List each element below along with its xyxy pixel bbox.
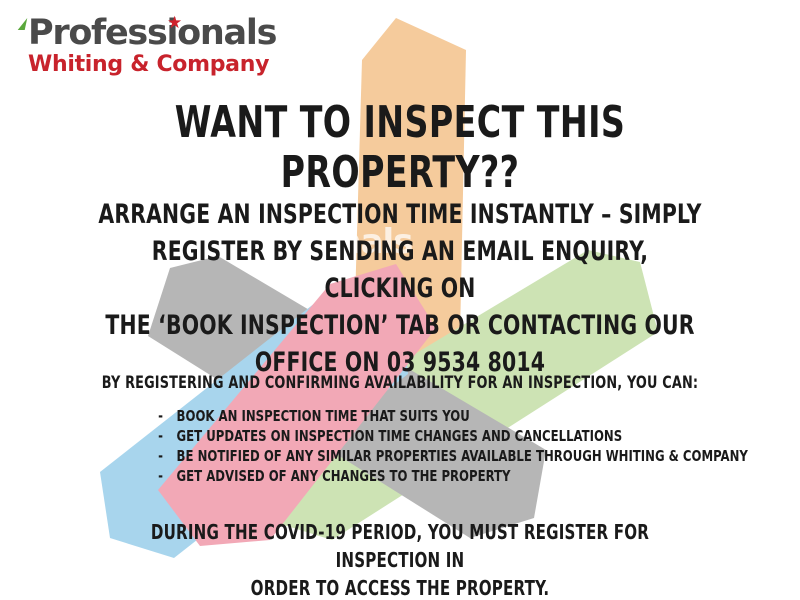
benefits-list: -BOOK AN INSPECTION TIME THAT SUITS YOU … — [0, 406, 800, 486]
list-item-label: GET UPDATES ON INSPECTION TIME CHANGES A… — [177, 427, 623, 445]
page-title: WANT TO INSPECT THIS PROPERTY?? — [64, 98, 736, 198]
list-item-label: BE NOTIFIED OF ANY SIMILAR PROPERTIES AV… — [177, 447, 748, 465]
bullet-marker: - — [158, 406, 176, 426]
list-item: -GET ADVISED OF ANY CHANGES TO THE PROPE… — [64, 466, 736, 486]
covid-notice-line: ORDER TO ACCESS THE PROPERTY. — [98, 574, 703, 600]
bullet-marker: - — [158, 466, 176, 486]
lead-line: ARRANGE AN INSPECTION TIME INSTANTLY – S… — [98, 196, 703, 233]
benefits-intro: BY REGISTERING AND CONFIRMING AVAILABILI… — [98, 372, 703, 394]
property-inspection-poster: Professionals Professionals ★ Whiting & … — [0, 0, 800, 600]
lead-paragraph: ARRANGE AN INSPECTION TIME INSTANTLY – S… — [40, 196, 760, 381]
list-item: -BE NOTIFIED OF ANY SIMILAR PROPERTIES A… — [64, 446, 736, 466]
poster-content: WANT TO INSPECT THIS PROPERTY?? ARRANGE … — [0, 0, 800, 600]
lead-line: REGISTER BY SENDING AN EMAIL ENQUIRY, CL… — [98, 233, 703, 307]
list-item-label: BOOK AN INSPECTION TIME THAT SUITS YOU — [177, 407, 470, 425]
bullet-marker: - — [158, 426, 176, 446]
covid-notice: DURING THE COVID-19 PERIOD, YOU MUST REG… — [40, 518, 760, 600]
lead-line: THE ‘BOOK INSPECTION’ TAB OR CONTACTING … — [98, 307, 703, 344]
list-item-label: GET ADVISED OF ANY CHANGES TO THE PROPER… — [177, 467, 511, 485]
bullet-marker: - — [158, 446, 176, 466]
list-item: -GET UPDATES ON INSPECTION TIME CHANGES … — [64, 426, 736, 446]
covid-notice-line: DURING THE COVID-19 PERIOD, YOU MUST REG… — [98, 518, 703, 574]
list-item: -BOOK AN INSPECTION TIME THAT SUITS YOU — [64, 406, 736, 426]
